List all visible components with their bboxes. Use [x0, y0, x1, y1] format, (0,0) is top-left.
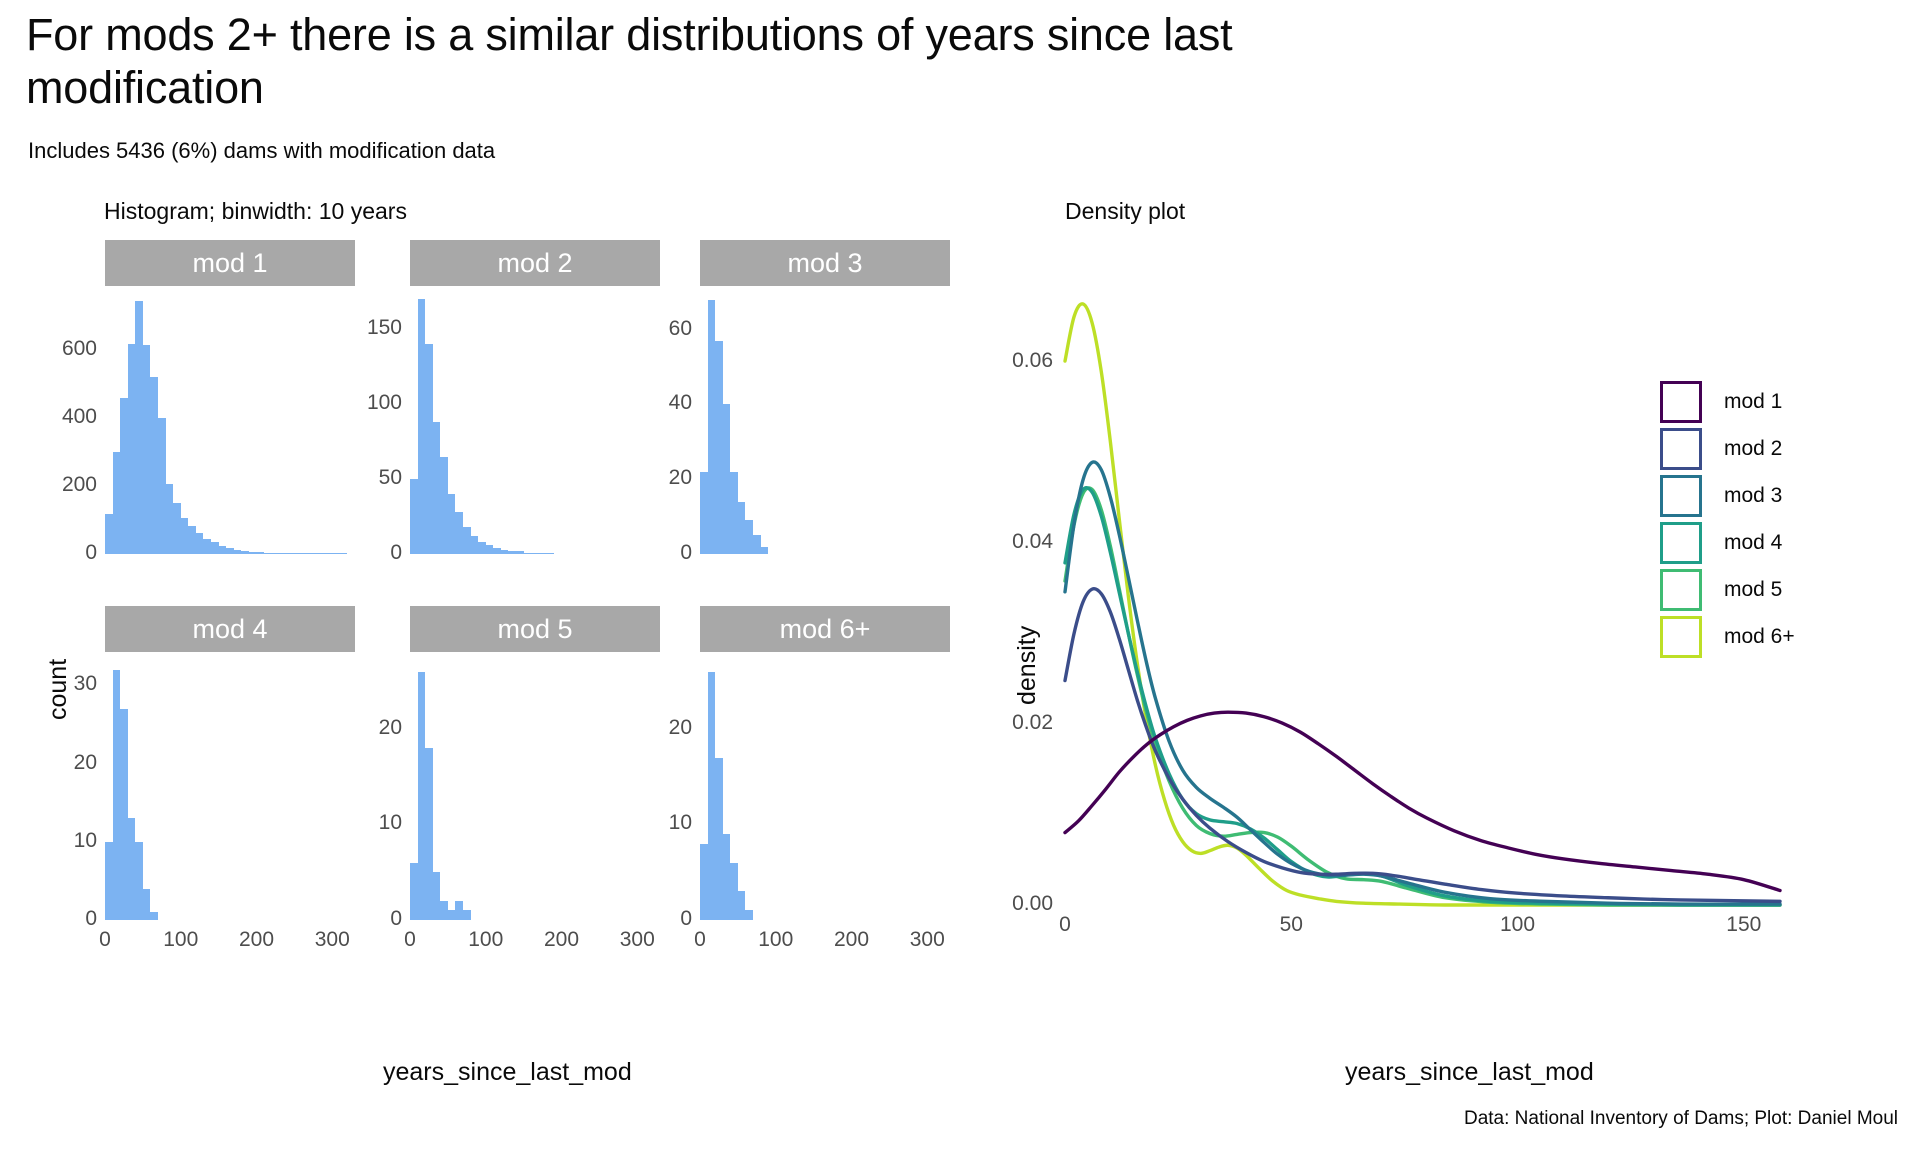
facet-strip-label: mod 2: [497, 248, 572, 279]
histogram-bar: [196, 533, 204, 554]
histogram-bar: [539, 553, 547, 555]
histogram-bar: [730, 472, 738, 554]
facet-strip-mod-1: mod 1: [105, 240, 355, 286]
histogram-x-tick: 300: [302, 928, 362, 952]
histogram-bar: [708, 672, 716, 920]
legend-item-label: mod 5: [1724, 578, 1782, 602]
histogram-bar: [211, 542, 219, 554]
histogram-bar: [264, 553, 272, 554]
facet-plot-mod-1: [105, 296, 355, 554]
legend-key-swatch: [1660, 522, 1702, 564]
histogram-bar: [745, 520, 753, 554]
histogram-bar: [135, 842, 143, 920]
histogram-y-tick: 20: [27, 751, 97, 775]
histogram-bar: [745, 910, 753, 920]
facet-strip-label: mod 1: [192, 248, 267, 279]
facet-strip-label: mod 3: [787, 248, 862, 279]
histogram-bar: [143, 889, 151, 920]
histogram-bar: [105, 514, 113, 554]
density-x-tick: 100: [1488, 913, 1548, 937]
histogram-bar: [234, 550, 242, 554]
histogram-bar: [440, 901, 448, 920]
histogram-x-tick: 0: [75, 928, 135, 952]
histogram-bar: [135, 301, 143, 554]
histogram-y-tick: 100: [332, 391, 402, 415]
histogram-bar: [463, 910, 471, 920]
histogram-bar: [188, 526, 196, 554]
histogram-y-tick: 20: [332, 716, 402, 740]
histogram-bar: [753, 535, 761, 554]
histogram-bar: [708, 300, 716, 554]
histogram-bar: [730, 863, 738, 920]
histogram-y-tick: 40: [622, 391, 692, 415]
histogram-bar: [294, 553, 302, 554]
histogram-bar: [418, 672, 426, 920]
density-y-tick: 0.04: [973, 530, 1053, 554]
legend-key-swatch: [1660, 428, 1702, 470]
histogram-x-tick: 100: [456, 928, 516, 952]
histogram-bar: [241, 551, 249, 554]
histogram-bar: [516, 551, 524, 554]
histogram-bar: [105, 842, 113, 920]
legend-item-mod-2[interactable]: mod 2: [1660, 425, 1795, 472]
histogram-bar: [257, 552, 265, 554]
legend-item-mod-3[interactable]: mod 3: [1660, 472, 1795, 519]
histogram-bar: [410, 479, 418, 554]
density-subtitle: Density plot: [1065, 198, 1185, 225]
histogram-bar: [508, 551, 516, 554]
histogram-y-tick: 50: [332, 466, 402, 490]
legend-item-label: mod 6+: [1724, 625, 1795, 649]
histogram-bar: [317, 553, 325, 554]
histogram-bar: [249, 552, 257, 554]
histogram-bar: [226, 548, 234, 554]
histogram-y-tick: 20: [622, 466, 692, 490]
histogram-bar: [455, 901, 463, 920]
histogram-bar: [524, 553, 532, 555]
facet-strip-mod-2: mod 2: [410, 240, 660, 286]
page-subtitle: Includes 5436 (6%) dams with modificatio…: [28, 138, 495, 164]
plot-caption: Data: National Inventory of Dams; Plot: …: [1464, 1108, 1898, 1130]
legend-item-label: mod 1: [1724, 390, 1782, 414]
density-y-tick: 0.06: [973, 349, 1053, 373]
histogram-bar: [113, 670, 121, 920]
histogram-y-tick: 10: [332, 811, 402, 835]
histogram-x-tick: 200: [227, 928, 287, 952]
histogram-bar: [113, 452, 121, 554]
density-x-tick: 150: [1714, 913, 1774, 937]
legend-key-swatch: [1660, 569, 1702, 611]
histogram-facet-grid: mod 10200400600mod 2050100150mod 3020406…: [0, 240, 980, 880]
histogram-y-tick: 10: [622, 811, 692, 835]
histogram-x-tick: 200: [822, 928, 882, 952]
histogram-bar: [723, 834, 731, 920]
density-x-tick: 50: [1261, 913, 1321, 937]
histogram-bar: [410, 863, 418, 920]
facet-strip-mod-3: mod 3: [700, 240, 950, 286]
density-legend: mod 1mod 2mod 3mod 4mod 5mod 6+: [1660, 378, 1795, 660]
histogram-bar: [546, 553, 554, 555]
histogram-bar: [486, 545, 494, 554]
page-title: For mods 2+ there is a similar distribut…: [26, 8, 1426, 114]
histogram-y-tick: 400: [27, 405, 97, 429]
histogram-bar: [128, 344, 136, 554]
histogram-y-tick: 10: [27, 829, 97, 853]
facet-plot-mod-5: [410, 662, 660, 920]
histogram-x-tick: 200: [532, 928, 592, 952]
histogram-bar: [715, 341, 723, 554]
histogram-y-tick: 0: [332, 541, 402, 565]
legend-item-mod-4[interactable]: mod 4: [1660, 519, 1795, 566]
histogram-y-tick: 60: [622, 317, 692, 341]
legend-item-mod-6-[interactable]: mod 6+: [1660, 613, 1795, 660]
histogram-bar: [455, 512, 463, 554]
facet-plot-mod-6-: [700, 662, 950, 920]
density-x-tick: 0: [1035, 913, 1095, 937]
facet-strip-mod-5: mod 5: [410, 606, 660, 652]
histogram-bar: [173, 503, 181, 554]
facet-strip-label: mod 5: [497, 614, 572, 645]
histogram-bar: [440, 457, 448, 555]
histogram-bar: [272, 553, 280, 554]
facet-strip-mod-4: mod 4: [105, 606, 355, 652]
histogram-bar: [738, 502, 746, 554]
density-curve-mod-1: [1065, 712, 1780, 890]
histogram-y-tick: 600: [27, 337, 97, 361]
histogram-bar: [120, 398, 128, 554]
histogram-bar: [287, 553, 295, 554]
facet-plot-mod-4: [105, 662, 355, 920]
legend-item-mod-5[interactable]: mod 5: [1660, 566, 1795, 613]
density-y-axis-title: density: [1013, 626, 1042, 705]
histogram-x-tick: 100: [746, 928, 806, 952]
facet-strip-label: mod 4: [192, 614, 267, 645]
histogram-bar: [166, 484, 174, 554]
histogram-bar: [418, 299, 426, 554]
histogram-subtitle: Histogram; binwidth: 10 years: [104, 198, 407, 225]
density-x-axis-title: years_since_last_mod: [1345, 1058, 1594, 1087]
histogram-bar: [279, 553, 287, 554]
histogram-bar: [493, 548, 501, 554]
histogram-bar: [471, 536, 479, 554]
legend-key-swatch: [1660, 381, 1702, 423]
histogram-bar: [448, 494, 456, 554]
legend-item-label: mod 2: [1724, 437, 1782, 461]
histogram-bar: [448, 910, 456, 920]
histogram-bar: [723, 404, 731, 554]
histogram-bar: [150, 912, 158, 920]
histogram-bar: [310, 553, 318, 554]
histogram-bar: [203, 539, 211, 554]
facet-strip-mod-6-: mod 6+: [700, 606, 950, 652]
legend-item-label: mod 3: [1724, 484, 1782, 508]
histogram-bar: [463, 527, 471, 554]
facet-plot-mod-3: [700, 296, 950, 554]
histogram-bar: [128, 818, 136, 920]
histogram-bar: [700, 844, 708, 920]
histogram-bar: [433, 422, 441, 554]
histogram-x-tick: 300: [607, 928, 667, 952]
histogram-y-tick: 0: [27, 541, 97, 565]
histogram-x-tick: 300: [897, 928, 957, 952]
legend-key-swatch: [1660, 475, 1702, 517]
histogram-bar: [433, 872, 441, 920]
histogram-bar: [715, 758, 723, 920]
histogram-bar: [425, 748, 433, 920]
histogram-bar: [425, 344, 433, 554]
histogram-bar: [501, 550, 509, 555]
histogram-x-tick: 0: [380, 928, 440, 952]
legend-item-label: mod 4: [1724, 531, 1782, 555]
histogram-bar: [478, 542, 486, 554]
density-y-tick: 0.02: [973, 711, 1053, 735]
legend-item-mod-1[interactable]: mod 1: [1660, 378, 1795, 425]
histogram-bar: [302, 553, 310, 554]
histogram-bar: [700, 472, 708, 554]
histogram-bar: [761, 547, 769, 554]
histogram-bar: [158, 418, 166, 554]
histogram-bar: [738, 891, 746, 920]
histogram-bar: [143, 345, 151, 554]
histogram-y-tick: 150: [332, 316, 402, 340]
histogram-y-tick: 20: [622, 716, 692, 740]
histogram-bar: [219, 546, 227, 554]
facet-strip-label: mod 6+: [780, 614, 871, 645]
histogram-y-tick: 0: [622, 541, 692, 565]
chart-page: For mods 2+ there is a similar distribut…: [0, 0, 1920, 1152]
histogram-bar: [181, 518, 189, 554]
histogram-y-tick: 200: [27, 473, 97, 497]
histogram-x-tick: 0: [670, 928, 730, 952]
histogram-x-axis-title: years_since_last_mod: [383, 1058, 632, 1087]
histogram-bar: [120, 709, 128, 920]
histogram-y-axis-title: count: [44, 659, 73, 720]
histogram-bar: [150, 377, 158, 554]
histogram-bar: [531, 553, 539, 555]
histogram-x-tick: 100: [151, 928, 211, 952]
legend-key-swatch: [1660, 616, 1702, 658]
